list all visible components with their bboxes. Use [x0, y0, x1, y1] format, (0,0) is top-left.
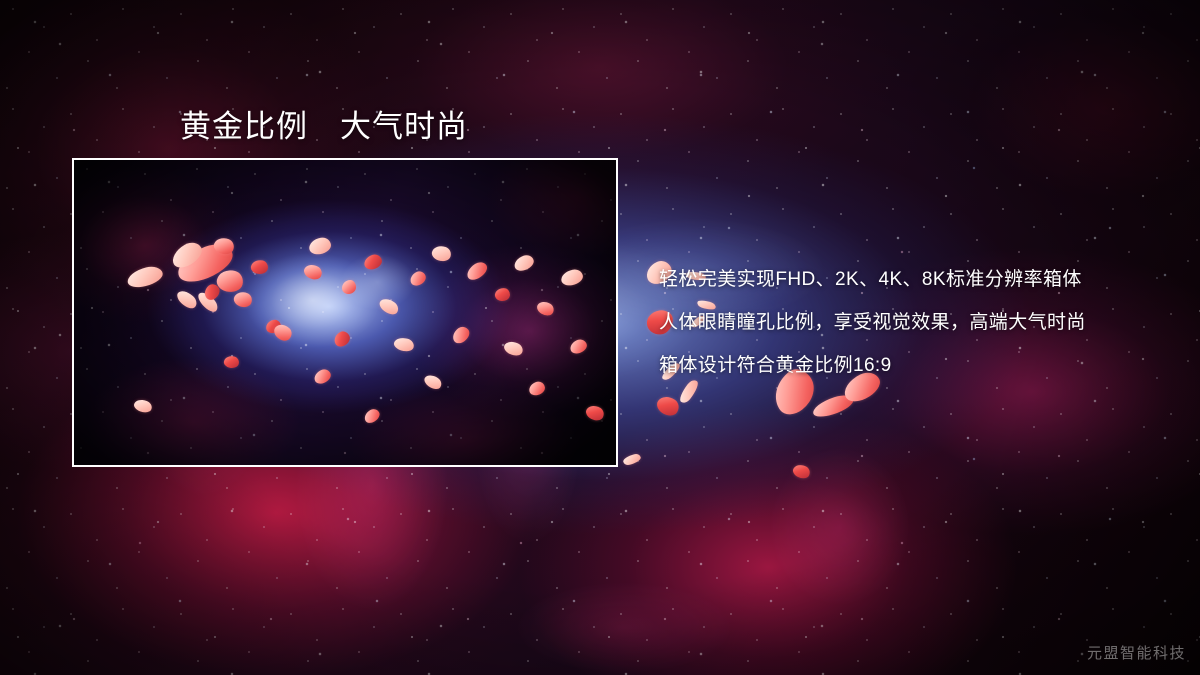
- petal-icon: [342, 280, 356, 294]
- slide-canvas: 黄金比例 大气时尚 轻松完美实现FHD、2K、4K、8K标准分辨率箱体 人体眼睛…: [0, 0, 1200, 675]
- petal-icon: [332, 329, 353, 349]
- petal-icon: [622, 453, 642, 466]
- page-title: 黄金比例 大气时尚: [180, 101, 468, 146]
- petal-icon: [568, 338, 588, 356]
- framed-image-core-glow: [74, 160, 616, 465]
- petal-icon: [302, 262, 324, 283]
- petal-icon: [125, 264, 164, 290]
- petal-icon: [464, 259, 490, 283]
- framed-starfield-small-icon: [74, 160, 616, 465]
- petal-icon: [362, 253, 383, 271]
- framed-image-nebula: [74, 160, 616, 465]
- petal-icon: [512, 253, 536, 273]
- petal-icon: [430, 243, 453, 263]
- petal-icon: [377, 295, 401, 317]
- petal-icon: [528, 380, 547, 396]
- petal-icon: [232, 289, 254, 310]
- petal-icon: [535, 299, 556, 319]
- petal-icon: [265, 319, 282, 334]
- petal-icon: [584, 403, 606, 424]
- petal-icon: [312, 367, 333, 385]
- petal-icon: [174, 287, 199, 311]
- petal-icon: [560, 268, 585, 287]
- body-line-2: 人体眼睛瞳孔比例，享受视觉效果，高端大气时尚: [659, 301, 1179, 344]
- watermark: 元盟智能科技: [1087, 642, 1186, 663]
- petal-icon: [201, 281, 222, 302]
- petal-icon: [212, 235, 236, 257]
- petal-icon: [362, 407, 382, 425]
- petal-icon: [408, 269, 428, 287]
- petal-icon: [494, 287, 511, 302]
- petal-icon: [811, 392, 856, 420]
- body-text-block: 轻松完美实现FHD、2K、4K、8K标准分辨率箱体 人体眼睛瞳孔比例，享受视觉效…: [659, 258, 1179, 387]
- petal-icon: [502, 339, 525, 359]
- petal-icon: [791, 462, 812, 481]
- body-line-1: 轻松完美实现FHD、2K、4K、8K标准分辨率箱体: [659, 258, 1179, 301]
- petal-icon: [168, 238, 206, 271]
- petal-icon: [654, 392, 682, 419]
- petal-icon: [196, 289, 221, 315]
- framed-starfield-medium-icon: [74, 160, 616, 465]
- framed-image-vignette: [74, 160, 616, 465]
- framed-image: [72, 158, 618, 467]
- petal-icon: [308, 236, 332, 256]
- petal-icon: [172, 238, 237, 288]
- petal-icon: [250, 259, 269, 276]
- petal-icon: [132, 397, 153, 414]
- body-line-3: 箱体设计符合黄金比例16:9: [659, 344, 1179, 387]
- petal-icon: [422, 372, 444, 392]
- petal-icon: [450, 324, 473, 346]
- petal-icon: [393, 335, 416, 353]
- petal-icon: [215, 267, 246, 295]
- petal-icon: [223, 355, 240, 370]
- petal-icon: [271, 321, 294, 344]
